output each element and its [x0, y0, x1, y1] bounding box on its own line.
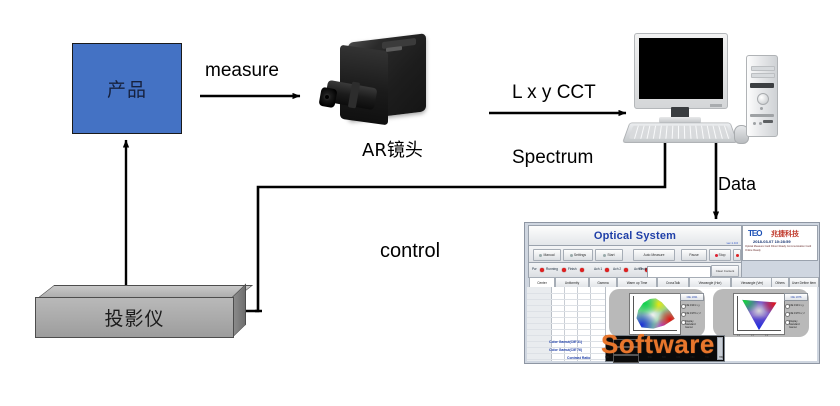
- computer-node: [626, 33, 776, 145]
- software-titlebar: Optical System ver.1.0.0: [528, 225, 742, 246]
- camera-lens-aperture-icon: [325, 95, 329, 99]
- metric-label-contrast: Contrast Ratio: [567, 356, 590, 360]
- cie-option-label: CIE 1931 x,y: [685, 304, 700, 307]
- spectrum-x-tick: 380: [605, 356, 609, 359]
- toolbar-button-label: Pause: [689, 253, 699, 257]
- status-led-bar: Pw Running Finish Ach 1 Ach 2 Ach 3 Ach …: [528, 262, 742, 278]
- ar-camera-node: [320, 36, 430, 136]
- led-label: Ach 1: [594, 267, 602, 271]
- tower-usb-ports: [763, 120, 773, 123]
- edge-label-results-line2: Spectrum: [512, 147, 596, 169]
- spectrum-x-tick: 780: [719, 356, 723, 359]
- led-indicator: [580, 268, 584, 272]
- toolbar-pause-button[interactable]: Pause: [681, 249, 707, 261]
- cie-1931-gamut-locus: [634, 297, 676, 330]
- vendor-logo-name: 兆捷科技: [771, 229, 799, 239]
- cie-option-label: CIE 1976 u',v': [685, 312, 701, 315]
- tab-label: Others: [775, 281, 785, 285]
- cie-option-label: CIE 1976 u',v': [789, 312, 805, 315]
- cie-x-tick: 0.0: [737, 335, 740, 337]
- cie-option-label: CIE 1931 x,y: [789, 304, 804, 307]
- tab-others[interactable]: Others: [771, 277, 789, 287]
- spectrum-x-tick: 530: [648, 356, 652, 359]
- cie-legend: CIE 1976: [784, 293, 808, 301]
- toolbar-start-button[interactable]: Start: [595, 249, 623, 261]
- software-tab-bar-overflow: Others User Define Item: [771, 277, 817, 287]
- spectrum-x-tick: 630: [676, 356, 680, 359]
- software-toolbar: Manual Settings Start Auto Measure Pause…: [528, 245, 742, 263]
- monitor-brand-mark: [710, 104, 722, 107]
- metric-label-gamut-76: Color Gamut(CIE'76): [549, 348, 582, 352]
- metric-value-gamut-31: [613, 339, 639, 347]
- tab-warm-up-time[interactable]: Warm up Time: [617, 277, 657, 287]
- cie-x-tick: 0.2: [751, 335, 754, 337]
- tab-crosstalk[interactable]: CrossTalk: [657, 277, 689, 287]
- cie-x-axis: [737, 330, 781, 331]
- monitor-icon: [634, 33, 728, 109]
- keyboard-keys: [629, 126, 731, 139]
- toolbar-exit-button[interactable]: [733, 249, 741, 261]
- cie-option-label: Display Standard Gamut: [685, 320, 702, 329]
- cie-1976-chart: 0.0 0.2 0.4: [733, 293, 785, 335]
- metric-value-gamut-76: [613, 347, 639, 355]
- product-label: 产品: [107, 75, 147, 102]
- cie-1931-chart: 0.0 0.2 0.4 0.6: [629, 293, 681, 335]
- tab-label: Viewangle (Hor): [699, 281, 722, 285]
- cie-x-axis: [633, 330, 677, 331]
- tower-led: [760, 107, 763, 110]
- tower-port-strip: [750, 114, 774, 117]
- led-indicator: [562, 268, 566, 272]
- cie-1976-options: CIE 1976 CIE 1931 x,y CIE 1976 u',v' Dis…: [784, 293, 806, 333]
- timestamp-display: 2018-03-07 10:28:59: [753, 239, 791, 244]
- tab-label: Center: [537, 281, 547, 285]
- tab-label: Viewangle (Ver): [741, 281, 763, 285]
- edge-label-results-line1: L x y CCT: [512, 82, 596, 104]
- toolbar-manual-button[interactable]: Manual: [533, 249, 561, 261]
- toolbar-button-label: Stop: [719, 253, 726, 257]
- cie-y-axis: [633, 296, 634, 331]
- pc-tower-icon: [746, 55, 778, 137]
- cie-1931-panel: 0.0 0.2 0.4 0.6 CIE 1931 CIE 1931 x,y CI…: [609, 289, 705, 337]
- product-node: 产品: [72, 43, 182, 134]
- tab-user-define-item[interactable]: User Define Item: [789, 277, 819, 287]
- toolbar-button-label: Manual: [543, 253, 554, 257]
- led-label: Pw: [532, 267, 536, 271]
- metric-value-contrast: [613, 355, 639, 363]
- tab-label: Warm up Time: [627, 281, 648, 285]
- cie-legend: CIE 1931: [680, 293, 704, 301]
- led-indicator: [624, 268, 628, 272]
- toolbar-settings-button[interactable]: Settings: [563, 249, 593, 261]
- edge-label-data: Data: [718, 174, 756, 195]
- edge-label-control: control: [380, 240, 440, 263]
- clear-content-button[interactable]: Clear Content: [711, 265, 739, 277]
- tower-slot: [751, 73, 775, 78]
- toolbar-stop-button[interactable]: Stop: [709, 249, 731, 261]
- tab-center[interactable]: Center: [529, 277, 555, 287]
- keyboard-icon: [622, 122, 738, 142]
- tab-viewangle-ver[interactable]: Viewangle (Ver): [731, 277, 773, 287]
- led-label: Running: [546, 267, 558, 271]
- vendor-logo-mark: TEO: [748, 229, 761, 238]
- tower-led: [759, 122, 762, 125]
- monitor-screen: [639, 38, 723, 99]
- led-indicator: [540, 268, 544, 272]
- tab-uniformity[interactable]: Uniformity: [555, 277, 589, 287]
- cie-option-label: Display Standard Gamut: [789, 320, 806, 329]
- ar-camera-label: AR镜头: [362, 136, 423, 162]
- cie-x-tick: 0.4: [765, 335, 768, 337]
- tab-label: CrossTalk: [666, 281, 680, 285]
- toolbar-auto-measure-button[interactable]: Auto Measure: [633, 249, 675, 261]
- spectrum-x-tick: 730: [705, 356, 709, 359]
- led-label: Ach 2: [613, 267, 621, 271]
- led-label: Finish: [568, 267, 577, 271]
- projector-node: 投影仪: [35, 285, 250, 337]
- cie-y-axis: [737, 296, 738, 331]
- software-content-area: 0.0 0.2 0.4 0.6 CIE 1931 CIE 1931 x,y CI…: [527, 287, 817, 361]
- tower-drive-bay: [750, 83, 774, 88]
- cie-1976-gamut-triangle: [740, 298, 778, 330]
- tab-label: Gamma: [597, 281, 608, 285]
- clear-content-label: Clear Content: [716, 269, 735, 273]
- tab-label: User Define Item: [792, 281, 816, 285]
- software-title: Optical System: [594, 230, 676, 242]
- tab-gamma[interactable]: Gamma: [589, 277, 617, 287]
- edge-label-measure: measure: [205, 60, 279, 82]
- tower-led: [753, 122, 756, 125]
- metric-label-gamut-31: Color Gamut(CIE'31): [549, 340, 582, 344]
- tab-viewangle-hor[interactable]: Viewangle (Hor): [689, 277, 731, 287]
- diagram-canvas: 产品 measure L x y CCT Spectrum control Da…: [0, 0, 840, 406]
- projector-label: 投影仪: [104, 304, 164, 331]
- software-screenshot[interactable]: Optical System ver.1.0.0 TEO 兆捷科技 2018-0…: [524, 222, 820, 364]
- projector-front-face: 投影仪: [35, 297, 234, 338]
- cie-1976-panel: 0.0 0.2 0.4 CIE 1976 CIE 1931 x,y CIE 19…: [713, 289, 809, 337]
- spectrum-x-tick: 580: [662, 356, 666, 359]
- tab-label: Uniformity: [565, 281, 579, 285]
- toolbar-button-label: Start: [607, 253, 614, 257]
- toolbar-button-label: Auto Measure: [643, 253, 664, 257]
- driver-status-text: Optical Measure Card Driver Ready Commun…: [745, 245, 817, 253]
- vendor-logo-panel: TEO 兆捷科技 2018-03-07 10:28:59 Optical Mea…: [742, 225, 818, 261]
- cie-1931-options: CIE 1931 CIE 1931 x,y CIE 1976 u',v' Dis…: [680, 293, 702, 333]
- tower-slot: [751, 66, 775, 71]
- spectrum-x-tick: 680: [691, 356, 695, 359]
- tower-power-button[interactable]: [757, 93, 769, 105]
- led-indicator: [605, 268, 609, 272]
- edge-label-results: L x y CCT Spectrum: [512, 38, 596, 213]
- toolbar-button-label: Settings: [574, 253, 586, 257]
